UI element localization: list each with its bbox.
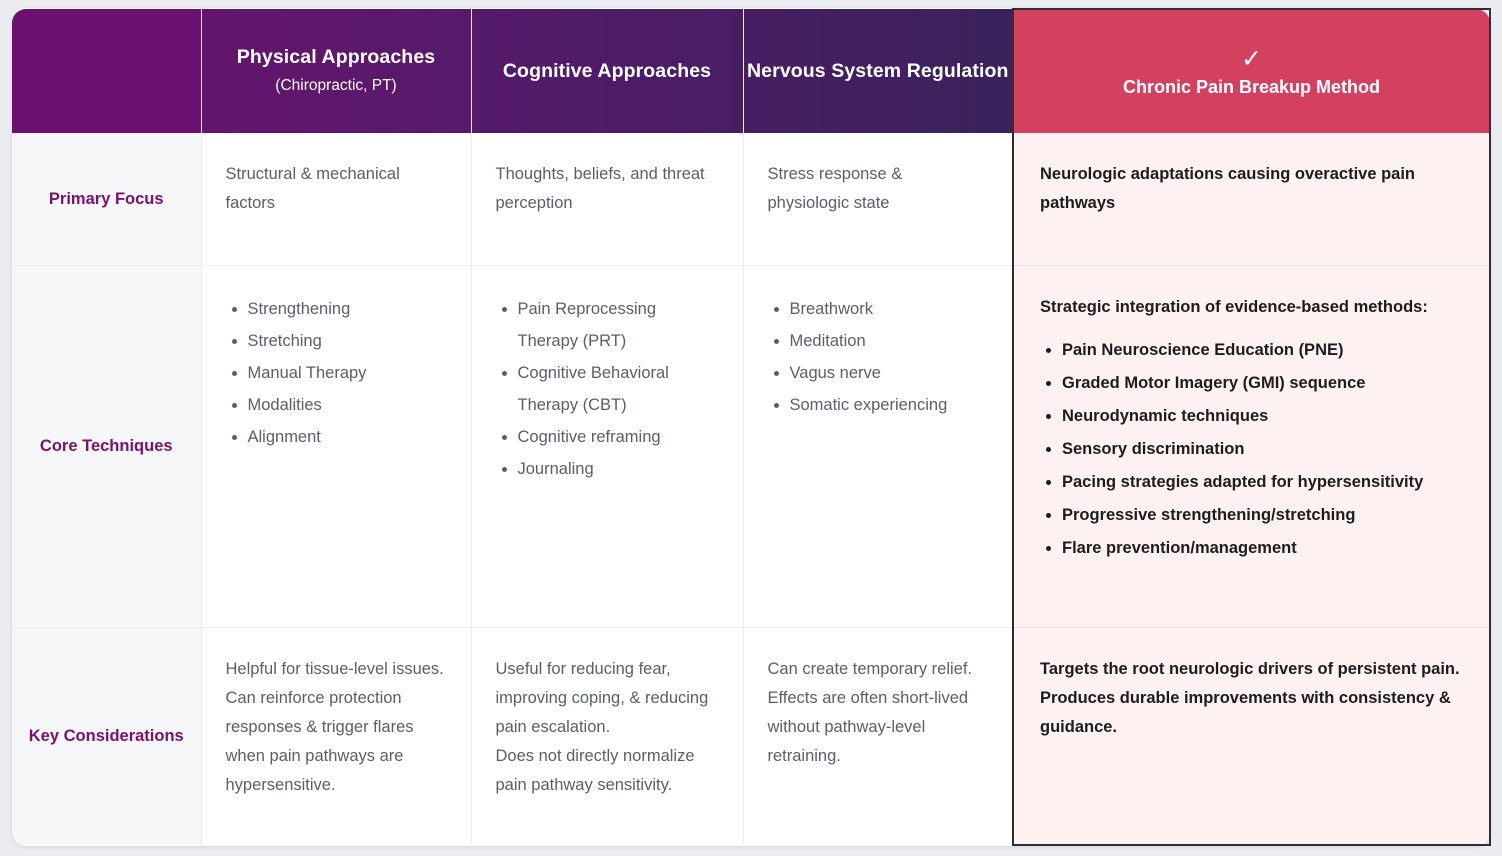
text-line: Effects are often short-lived without pa… (768, 684, 989, 771)
cell-key-considerations-cognitive: Useful for reducing fear, improving copi… (471, 627, 743, 845)
comparison-table-card: Physical Approaches (Chiropractic, PT) C… (12, 8, 1490, 846)
bullet-list: Pain Reprocessing Therapy (PRT)Cognitive… (496, 293, 719, 485)
cell-primary-focus-physical: Structural & mechanical factors (201, 133, 471, 266)
bullet-list: StrengtheningStretchingManual TherapyMod… (226, 293, 447, 453)
text-line: Targets the root neurologic drivers of p… (1040, 655, 1465, 684)
cell-key-considerations-nervous: Can create temporary relief.Effects are … (743, 627, 1013, 845)
bullet-item: Somatic experiencing (790, 389, 989, 421)
text-line: Does not directly normalize pain pathway… (496, 742, 719, 800)
bullet-item: Graded Motor Imagery (GMI) sequence (1062, 367, 1465, 400)
cell-primary-focus-nervous: Stress response & physiologic state (743, 133, 1013, 266)
bullet-item: Neurodynamic techniques (1062, 400, 1465, 433)
bullet-item: Cognitive Behavioral Therapy (CBT) (518, 357, 719, 421)
highlight-lede: Neurologic adaptations causing overactiv… (1040, 160, 1465, 218)
highlight-line-group: Targets the root neurologic drivers of p… (1040, 655, 1465, 742)
cell-core-techniques-cognitive: Pain Reprocessing Therapy (PRT)Cognitive… (471, 266, 743, 628)
bullet-item: Progressive strengthening/stretching (1062, 499, 1465, 532)
header-row: Physical Approaches (Chiropractic, PT) C… (12, 9, 1490, 133)
column-title: Cognitive Approaches (472, 59, 743, 84)
column-subtitle: (Chiropractic, PT) (202, 74, 471, 98)
bullet-item: Pain Reprocessing Therapy (PRT) (518, 293, 719, 357)
bullet-item: Cognitive reframing (518, 421, 719, 453)
cell-core-techniques-physical: StrengtheningStretchingManual TherapyMod… (201, 266, 471, 628)
column-title: Nervous System Regulation (744, 59, 1013, 84)
highlight-bullet-list: Pain Neuroscience Education (PNE)Graded … (1040, 334, 1465, 565)
bullet-item: Sensory discrimination (1062, 433, 1465, 466)
line-group: Useful for reducing fear, improving copi… (496, 655, 719, 800)
table-row-primary-focus: Primary Focus Structural & mechanical fa… (12, 133, 1490, 266)
cell-key-considerations-physical: Helpful for tissue-level issues.Can rein… (201, 627, 471, 845)
column-header-nervous-system-regulation: Nervous System Regulation (743, 9, 1013, 133)
bullet-item: Breathwork (790, 293, 989, 325)
table-row-key-considerations: Key Considerations Helpful for tissue-le… (12, 627, 1490, 845)
bullet-item: Pain Neuroscience Education (PNE) (1062, 334, 1465, 367)
text-line: Useful for reducing fear, improving copi… (496, 655, 719, 742)
text-line: Can reinforce protection responses & tri… (226, 684, 447, 800)
row-label-primary-focus: Primary Focus (12, 133, 201, 266)
cell-key-considerations-highlight: Targets the root neurologic drivers of p… (1013, 627, 1490, 845)
row-label-key-considerations: Key Considerations (12, 627, 201, 845)
cell-primary-focus-cognitive: Thoughts, beliefs, and threat perception (471, 133, 743, 266)
check-icon: ✓ (1014, 45, 1489, 73)
line-group: Helpful for tissue-level issues.Can rein… (226, 655, 447, 800)
table-header: Physical Approaches (Chiropractic, PT) C… (12, 9, 1490, 133)
column-header-cognitive-approaches: Cognitive Approaches (471, 9, 743, 133)
text-line: Helpful for tissue-level issues. (226, 655, 447, 684)
bullet-item: Pacing strategies adapted for hypersensi… (1062, 466, 1465, 499)
bullet-item: Journaling (518, 453, 719, 485)
bullet-list: BreathworkMeditationVagus nerveSomatic e… (768, 293, 989, 421)
bullet-item: Modalities (248, 389, 447, 421)
bullet-item: Manual Therapy (248, 357, 447, 389)
column-title: Physical Approaches (202, 45, 471, 70)
bullet-item: Strengthening (248, 293, 447, 325)
text-line: Produces durable improvements with consi… (1040, 684, 1465, 742)
column-title: Chronic Pain Breakup Method (1014, 76, 1489, 99)
line-group: Can create temporary relief.Effects are … (768, 655, 989, 771)
bullet-item: Vagus nerve (790, 357, 989, 389)
highlight-lede: Strategic integration of evidence-based … (1040, 293, 1465, 322)
table-body: Primary Focus Structural & mechanical fa… (12, 133, 1490, 845)
table-row-core-techniques: Core Techniques StrengtheningStretchingM… (12, 266, 1490, 628)
text-line: Can create temporary relief. (768, 655, 989, 684)
header-corner-cell (12, 9, 201, 133)
cell-primary-focus-highlight: Neurologic adaptations causing overactiv… (1013, 133, 1490, 266)
bullet-item: Alignment (248, 421, 447, 453)
cell-core-techniques-nervous: BreathworkMeditationVagus nerveSomatic e… (743, 266, 1013, 628)
comparison-table: Physical Approaches (Chiropractic, PT) C… (12, 8, 1491, 846)
row-label-core-techniques: Core Techniques (12, 266, 201, 628)
column-header-physical-approaches: Physical Approaches (Chiropractic, PT) (201, 9, 471, 133)
bullet-item: Meditation (790, 325, 989, 357)
bullet-item: Flare prevention/management (1062, 532, 1465, 565)
bullet-item: Stretching (248, 325, 447, 357)
cell-core-techniques-highlight: Strategic integration of evidence-based … (1013, 266, 1490, 628)
column-header-chronic-pain-breakup-method: ✓ Chronic Pain Breakup Method (1013, 9, 1490, 133)
